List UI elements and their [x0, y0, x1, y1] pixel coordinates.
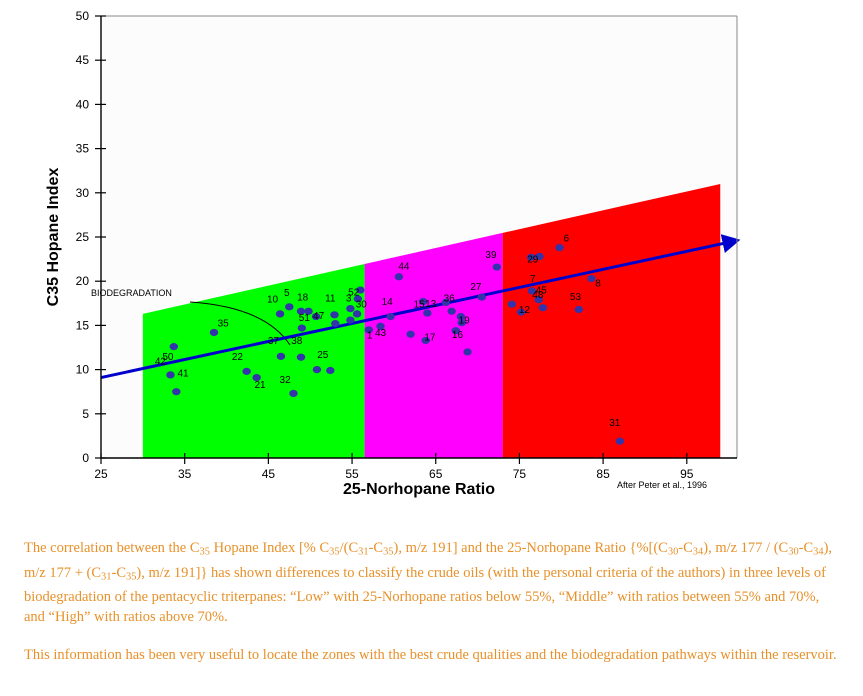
- data-point: [616, 438, 624, 445]
- data-point-label: 25: [317, 350, 329, 361]
- data-point-label: 50: [162, 352, 174, 363]
- data-point-label: 12: [519, 305, 531, 316]
- data-point-label: 44: [398, 262, 410, 273]
- zone-middle: [365, 233, 503, 458]
- data-point-label: 10: [267, 294, 279, 305]
- caption-seg: ), m/z 177 / (C: [703, 540, 788, 556]
- y-axis-title: C35 Hopane Index: [45, 168, 62, 307]
- data-point-label: 1: [367, 331, 373, 342]
- data-point-label: 41: [177, 369, 189, 380]
- data-point-label: 43: [375, 328, 387, 339]
- data-point: [242, 368, 250, 375]
- data-point-label: 27: [470, 282, 482, 293]
- data-point-label: 16: [452, 330, 464, 341]
- data-point-label: 21: [254, 380, 266, 391]
- caption-seg: The correlation between the C: [24, 540, 200, 556]
- caption-sub: 30: [788, 547, 798, 558]
- y-tick-label: 40: [76, 97, 90, 111]
- x-tick-label: 55: [345, 467, 359, 481]
- data-point: [285, 303, 293, 310]
- data-point-label: 36: [444, 294, 456, 305]
- x-tick-label: 75: [513, 467, 527, 481]
- x-tick-label: 25: [94, 467, 108, 481]
- caption-sub: 35: [126, 571, 136, 582]
- data-point: [539, 304, 547, 311]
- data-point: [170, 343, 178, 350]
- data-point-label: 7: [530, 274, 536, 285]
- caption-sub: 30: [668, 547, 678, 558]
- caption-seg: -C: [111, 565, 126, 581]
- data-point: [210, 329, 218, 336]
- caption-seg: -C: [799, 540, 814, 556]
- caption-paragraph-1: The correlation between the C35 Hopane I…: [24, 538, 839, 627]
- data-point: [555, 244, 563, 251]
- source-credit: After Peter et al., 1996: [617, 480, 707, 490]
- x-tick-label: 85: [596, 467, 610, 481]
- data-point: [297, 354, 305, 361]
- data-point: [447, 308, 455, 315]
- y-tick-label: 25: [76, 230, 90, 244]
- x-tick-label: 45: [262, 467, 276, 481]
- data-point: [395, 273, 403, 280]
- caption-seg: ), m/z 191] and the 25-Norhopane Ratio {…: [394, 540, 668, 556]
- data-point-label: 5: [284, 288, 290, 299]
- data-point-label: 48: [532, 290, 544, 301]
- caption-seg: Hopane Index [% C: [210, 540, 329, 556]
- caption-sub: 35: [383, 547, 393, 558]
- data-point-label: 51: [299, 313, 311, 324]
- y-tick-label: 20: [76, 274, 90, 288]
- x-axis-title: 25-Norhopane Ratio: [343, 481, 495, 498]
- caption-seg: -C: [369, 540, 384, 556]
- data-point: [277, 353, 285, 360]
- data-point: [508, 301, 516, 308]
- y-tick-label: 30: [76, 186, 90, 200]
- data-point-label: 35: [218, 318, 230, 329]
- data-point: [346, 305, 354, 312]
- data-point-label: 8: [595, 279, 601, 290]
- y-tick-label: 0: [82, 451, 89, 465]
- caption-seg: -C: [678, 540, 693, 556]
- scatter-chart: 4241503522213732382510518514711330521431…: [0, 0, 863, 512]
- data-point: [386, 313, 394, 320]
- x-tick-label: 65: [429, 467, 443, 481]
- y-tick-label: 15: [76, 318, 90, 332]
- caption-seg: /(C: [340, 540, 359, 556]
- caption-sub: 34: [813, 547, 823, 558]
- data-point-label: 6: [564, 233, 570, 244]
- y-tick-label: 5: [82, 407, 89, 421]
- data-point-label: 30: [356, 300, 368, 311]
- data-point: [353, 310, 361, 317]
- data-point: [298, 324, 306, 331]
- data-point-label: 15: [413, 300, 425, 311]
- data-point: [575, 306, 583, 313]
- data-point: [172, 388, 180, 395]
- caption-sub: 34: [693, 547, 703, 558]
- data-point: [330, 311, 338, 318]
- caption-sub: 31: [358, 547, 368, 558]
- data-point-label: 18: [297, 293, 309, 304]
- caption-paragraph-2: This information has been very useful to…: [24, 645, 839, 665]
- data-point-label: 22: [232, 352, 244, 363]
- y-tick-label: 50: [76, 9, 90, 23]
- data-point-label: 37: [268, 336, 280, 347]
- data-point: [313, 366, 321, 373]
- data-point-label: 47: [313, 311, 325, 322]
- data-point-label: 39: [485, 250, 497, 261]
- x-tick-label: 35: [178, 467, 192, 481]
- data-point-label: 19: [459, 316, 471, 327]
- biodegradation-annotation: BIODEGRADATION: [91, 288, 172, 298]
- data-point: [346, 316, 354, 323]
- data-point: [331, 320, 339, 327]
- data-point-label: 52: [348, 287, 360, 298]
- caption-seg: ), m/z 191]} has shown differences to cl…: [24, 565, 826, 626]
- data-point-label: 14: [382, 297, 394, 308]
- figure-caption: The correlation between the C35 Hopane I…: [0, 512, 863, 696]
- data-point-label: 17: [424, 332, 436, 343]
- data-point-label: 29: [527, 255, 539, 266]
- x-tick-label: 95: [680, 467, 694, 481]
- data-point-label: 31: [609, 418, 621, 429]
- data-point: [166, 371, 174, 378]
- data-point-label: 38: [291, 336, 303, 347]
- data-point: [463, 348, 471, 355]
- caption-sub: 35: [200, 547, 210, 558]
- data-point-label: 53: [570, 292, 582, 303]
- data-point: [406, 331, 414, 338]
- caption-sub: 31: [101, 571, 111, 582]
- y-tick-label: 45: [76, 53, 90, 67]
- data-point-label: 32: [280, 375, 292, 386]
- data-point-label: 13: [425, 299, 437, 310]
- y-tick-label: 35: [76, 142, 90, 156]
- data-point: [289, 390, 297, 397]
- data-point-label: 11: [325, 294, 336, 305]
- caption-sub: 35: [329, 547, 339, 558]
- data-point: [478, 294, 486, 301]
- data-point: [493, 263, 501, 270]
- data-point: [326, 367, 334, 374]
- data-point: [276, 310, 284, 317]
- y-tick-label: 10: [76, 363, 90, 377]
- chart-figure: 4241503522213732382510518514711330521431…: [0, 0, 863, 512]
